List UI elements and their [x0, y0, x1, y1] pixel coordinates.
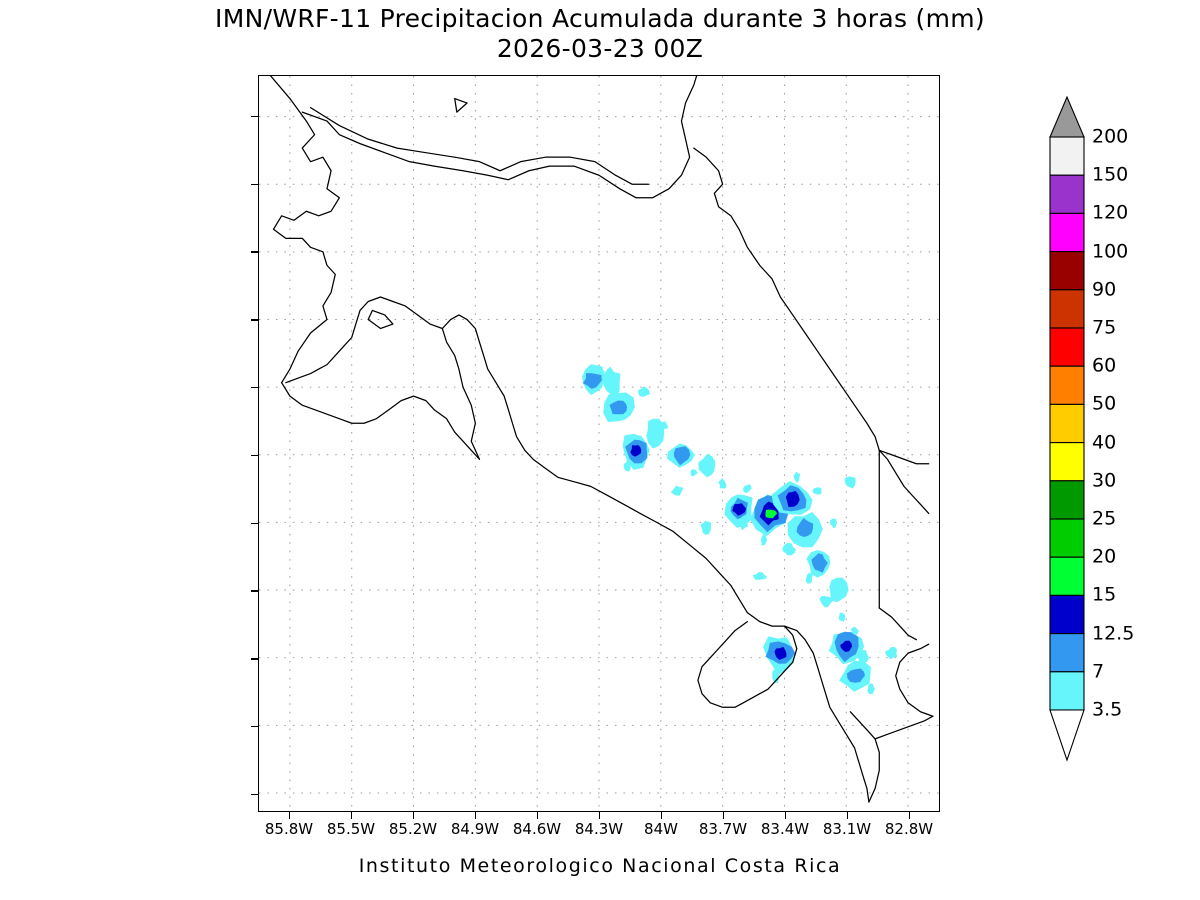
- colorbar-band: [1050, 328, 1084, 366]
- precip-contour: [783, 543, 796, 555]
- colorbar-band: [1050, 137, 1084, 175]
- precip-contour: [671, 486, 684, 496]
- precip-contour: [753, 572, 767, 580]
- map-plot-frame: [258, 75, 940, 812]
- coastline-path: [896, 644, 933, 716]
- colorbar-tick-label: 20: [1092, 548, 1116, 567]
- colorbar-band: [1050, 366, 1084, 404]
- coastline-path: [694, 148, 929, 513]
- colorbar-tick-label: 3.5: [1092, 701, 1122, 720]
- colorbar-tick-label: 15: [1092, 586, 1116, 605]
- coastline-path: [311, 108, 649, 185]
- precip-contour: [624, 460, 632, 471]
- x-tick-mark: [413, 812, 414, 819]
- x-tick-mark: [723, 812, 724, 819]
- costa-rica-map: [259, 76, 939, 811]
- precip-contour: [701, 521, 712, 535]
- colorbar-tick-label: 30: [1092, 471, 1116, 490]
- coastline-path: [875, 716, 933, 739]
- colorbar-tick-label: 7: [1092, 662, 1104, 681]
- precip-contour: [743, 484, 751, 493]
- precip-contour: [812, 487, 821, 494]
- x-tick-mark: [909, 812, 910, 819]
- x-tick-mark: [599, 812, 600, 819]
- colorbar-over-cap: [1050, 97, 1084, 137]
- precip-contour: [761, 534, 767, 545]
- precip-contour: [601, 367, 620, 398]
- x-tick-mark: [351, 812, 352, 819]
- precip-contour: [867, 684, 875, 695]
- colorbar: 20015012010090756050403025201512.573.5: [1048, 95, 1198, 815]
- colorbar-band: [1050, 519, 1084, 557]
- coastline-layer: [263, 76, 933, 802]
- coastline-path: [879, 608, 916, 640]
- x-tick-label: 82.8W: [869, 822, 949, 837]
- precip-contour: [838, 612, 845, 621]
- colorbar-tick-label: 50: [1092, 395, 1116, 414]
- precip-contour: [830, 518, 837, 528]
- colorbar-band: [1050, 404, 1084, 442]
- x-tick-mark: [847, 812, 848, 819]
- coastline-path: [368, 310, 393, 328]
- precip-contour: [829, 578, 848, 603]
- colorbar-tick-label: 60: [1092, 357, 1116, 376]
- colorbar-tick-label: 90: [1092, 280, 1116, 299]
- colorbar-tick-label: 150: [1092, 166, 1128, 185]
- coastline-path: [879, 450, 928, 463]
- colorbar-band: [1050, 557, 1084, 595]
- x-tick-mark: [289, 812, 290, 819]
- coastline-path: [282, 383, 480, 460]
- colorbar-band: [1050, 672, 1084, 710]
- precip-contour: [594, 366, 603, 372]
- precip-contour: [718, 478, 726, 488]
- colorbar-tick-label: 120: [1092, 204, 1128, 223]
- colorbar-band: [1050, 595, 1084, 633]
- colorbar-band: [1050, 175, 1084, 213]
- colorbar-tick-label: 25: [1092, 510, 1116, 529]
- coastline-path: [455, 99, 467, 113]
- chart-footer-credit: Instituto Meteorologico Nacional Costa R…: [0, 855, 1200, 877]
- colorbar-tick-label: 75: [1092, 319, 1116, 338]
- x-tick-mark: [475, 812, 476, 819]
- colorbar-under-cap: [1050, 710, 1084, 760]
- precipitation-field: [582, 364, 897, 694]
- precip-contour: [806, 573, 813, 584]
- precip-contour: [819, 596, 832, 607]
- precip-contour: [691, 469, 698, 476]
- colorbar-tick-label: 12.5: [1092, 624, 1134, 643]
- x-tick-mark: [661, 812, 662, 819]
- precip-contour: [793, 472, 800, 483]
- colorbar-band: [1050, 443, 1084, 481]
- colorbar-band: [1050, 290, 1084, 328]
- colorbar-tick-label: 40: [1092, 433, 1116, 452]
- colorbar-band: [1050, 252, 1084, 290]
- x-tick-mark: [785, 812, 786, 819]
- coastline-path: [286, 297, 443, 383]
- precip-contour: [638, 386, 650, 397]
- colorbar-band: [1050, 213, 1084, 251]
- x-tick-mark: [537, 812, 538, 819]
- gridlines: [259, 76, 939, 811]
- colorbar-tick-label: 200: [1092, 128, 1128, 147]
- colorbar-band: [1050, 481, 1084, 519]
- colorbar-tick-label: 100: [1092, 242, 1128, 261]
- precip-contour: [698, 454, 715, 477]
- coastline-path: [302, 76, 698, 198]
- colorbar-band: [1050, 634, 1084, 672]
- coastline-path: [850, 712, 879, 802]
- precip-contour: [844, 477, 855, 489]
